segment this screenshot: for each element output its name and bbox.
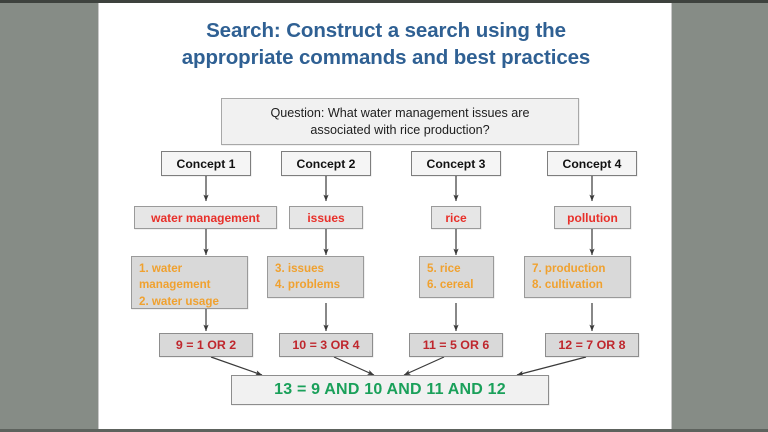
synonym-line: management (139, 277, 240, 293)
synonym-line: 4. problems (275, 277, 356, 293)
synonym-box-2: 3. issues 4. problems (267, 256, 364, 298)
slide-stage: Search: Construct a search using the app… (0, 0, 768, 432)
question-line-1: Question: What water management issues a… (271, 105, 530, 122)
concept-box-1: Concept 1 (161, 151, 251, 176)
or-box-2: 10 = 3 OR 4 (279, 333, 373, 357)
question-box: Question: What water management issues a… (221, 98, 579, 145)
page-title-line-1: Search: Construct a search using the (99, 17, 673, 44)
synonym-line: 3. issues (275, 261, 356, 277)
concept-box-4: Concept 4 (547, 151, 637, 176)
slide-canvas: Search: Construct a search using the app… (98, 3, 672, 429)
term-box-2: issues (289, 206, 363, 229)
or-box-3: 11 = 5 OR 6 (409, 333, 503, 357)
synonym-box-4: 7. production 8. cultivation (524, 256, 631, 298)
synonym-line: 5. rice (427, 261, 486, 277)
page-title-line-2: appropriate commands and best practices (99, 44, 673, 71)
synonym-line: 6. cereal (427, 277, 486, 293)
synonym-box-1: 1. water management 2. water usage (131, 256, 248, 309)
frame-left-margin (0, 0, 98, 432)
term-box-1: water management (134, 206, 277, 229)
term-box-3: rice (431, 206, 481, 229)
page-title: Search: Construct a search using the app… (99, 17, 673, 71)
synonym-line: 1. water (139, 261, 240, 277)
question-line-2: associated with rice production? (310, 122, 489, 139)
final-and-box: 13 = 9 AND 10 AND 11 AND 12 (231, 375, 549, 405)
frame-right-margin (672, 0, 768, 432)
synonym-line: 8. cultivation (532, 277, 623, 293)
or-box-4: 12 = 7 OR 8 (545, 333, 639, 357)
concept-box-2: Concept 2 (281, 151, 371, 176)
concept-box-3: Concept 3 (411, 151, 501, 176)
synonym-line: 2. water usage (139, 294, 240, 310)
term-box-4: pollution (554, 206, 631, 229)
or-box-1: 9 = 1 OR 2 (159, 333, 253, 357)
synonym-line: 7. production (532, 261, 623, 277)
synonym-box-3: 5. rice 6. cereal (419, 256, 494, 298)
